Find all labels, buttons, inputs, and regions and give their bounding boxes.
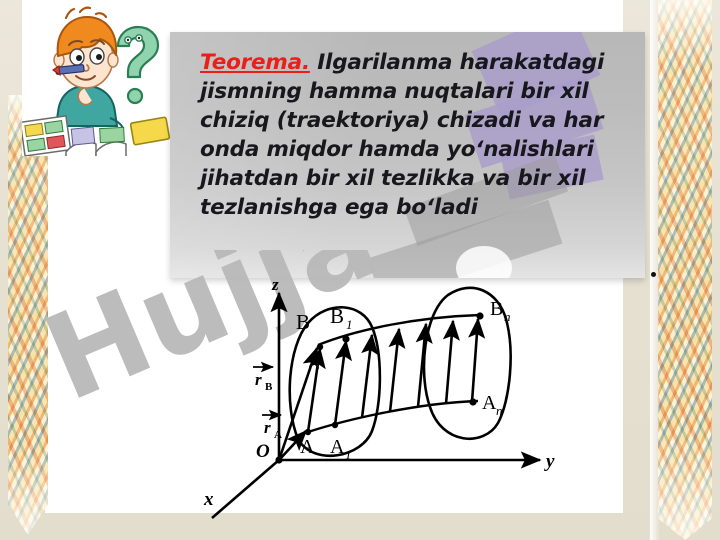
svg-text:B: B bbox=[265, 381, 273, 393]
ornament-fade-overlay bbox=[8, 95, 48, 535]
marker-A bbox=[305, 429, 311, 435]
label-B: B bbox=[296, 310, 310, 334]
theorem-panel: Teorema. Ilgarilanma harakatdagi jismnin… bbox=[170, 32, 645, 278]
displacement-arrow-2 bbox=[335, 341, 346, 425]
marker-Bn bbox=[476, 312, 483, 319]
translational-motion-diagram: z y x O r B bbox=[180, 275, 600, 525]
label-A1: A 1 bbox=[330, 436, 352, 462]
marker-An bbox=[469, 398, 476, 405]
ornamental-border-right-pattern bbox=[658, 0, 712, 540]
svg-text:A: A bbox=[300, 436, 315, 458]
svg-text:B: B bbox=[330, 304, 344, 328]
marker-B bbox=[317, 344, 323, 350]
svg-text:A: A bbox=[274, 429, 282, 441]
theorem-line-4: onda miqdor hamda yo‘nalishlari bbox=[200, 137, 594, 162]
axis-label-y: y bbox=[544, 451, 555, 472]
displacement-arrow-3 bbox=[362, 335, 372, 418]
displacement-arrow-6 bbox=[446, 321, 453, 404]
label-A: A bbox=[300, 436, 315, 458]
displacement-arrow-4 bbox=[390, 329, 399, 412]
ornament-fade-overlay bbox=[658, 0, 712, 540]
svg-text:B: B bbox=[296, 310, 310, 334]
x-axis bbox=[212, 460, 279, 518]
axis-label-z: z bbox=[271, 275, 279, 294]
svg-text:A: A bbox=[482, 392, 497, 414]
ornamental-border-left-pattern bbox=[8, 95, 48, 535]
trailing-dot bbox=[651, 272, 656, 277]
origin-label: O bbox=[256, 441, 270, 462]
svg-text:B: B bbox=[490, 298, 503, 320]
svg-text:n: n bbox=[504, 309, 511, 324]
theorem-line-1: Ilgarilanma harakatdagi bbox=[317, 50, 604, 75]
svg-text:1: 1 bbox=[345, 447, 352, 462]
label-Bn: B n bbox=[490, 298, 511, 324]
axis-label-x: x bbox=[203, 489, 214, 510]
slide-canvas: Teorema. Ilgarilanma harakatdagi jismnin… bbox=[0, 0, 720, 540]
displacement-arrows bbox=[308, 319, 478, 432]
svg-text:n: n bbox=[496, 403, 503, 418]
theorem-text: Teorema. Ilgarilanma harakatdagi jismnin… bbox=[170, 32, 645, 222]
label-An: A n bbox=[482, 392, 503, 418]
displacement-arrow-7 bbox=[472, 319, 478, 402]
theorem-keyword: Teorema. bbox=[200, 50, 310, 75]
thinking-schoolboy-illustration bbox=[22, 0, 174, 156]
marker-A1 bbox=[332, 422, 338, 428]
svg-text:A: A bbox=[330, 436, 345, 458]
theorem-line-5: jihatdan bir xil tezlikka va bir xil bbox=[200, 166, 585, 191]
svg-text:1: 1 bbox=[346, 317, 353, 332]
theorem-line-6: tezlanishga ega bo‘ladi bbox=[200, 195, 478, 220]
theorem-line-3: chiziq (traektoriya) chizadi va har bbox=[200, 108, 603, 133]
ornamental-border-right bbox=[650, 0, 720, 540]
svg-text:r: r bbox=[255, 370, 262, 389]
svg-text:r: r bbox=[264, 418, 271, 437]
vector-label-rB: r B bbox=[253, 367, 273, 393]
ornament-left-edge-fade bbox=[650, 0, 660, 540]
displacement-arrow-1 bbox=[308, 349, 320, 432]
theorem-line-2: jismning hamma nuqtalari bir xil bbox=[200, 79, 589, 104]
vector-labels: r B r A bbox=[253, 367, 282, 441]
marker-B1 bbox=[342, 335, 349, 342]
